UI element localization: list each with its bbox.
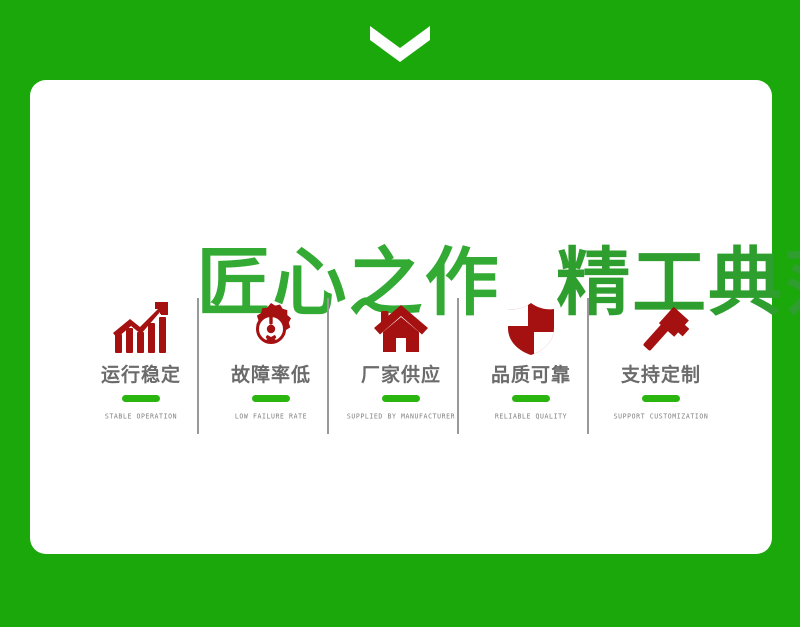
content-card: 匠心之作 精工典范 [30, 80, 772, 554]
feature-title: 运行稳定 [101, 366, 181, 385]
feature-title: 支持定制 [621, 366, 701, 385]
feature-subtitle: STABLE OPERATION [105, 413, 177, 420]
bar-chart-growth-icon [111, 298, 171, 360]
feature-underline [382, 395, 420, 402]
feature-item-reliable-quality: 品质可靠 RELIABLE QUALITY [466, 298, 596, 453]
feature-underline [252, 395, 290, 402]
chevron-down-icon [370, 26, 430, 62]
feature-item-stable-operation: 运行稳定 STABLE OPERATION [76, 298, 206, 453]
feature-item-low-failure-rate: 故障率低 LOW FAILURE RATE [206, 298, 336, 453]
chevron-down-icon-wrapper [0, 24, 800, 64]
feature-subtitle: SUPPORT CUSTOMIZATION [614, 413, 709, 420]
feature-underline [512, 395, 550, 402]
feature-title: 故障率低 [231, 366, 311, 385]
shield-icon [506, 298, 556, 360]
feature-item-supplied-by-manufacturer: 厂家供应 SUPPLIED BY MANUFACTURER [336, 298, 466, 453]
feature-subtitle: LOW FAILURE RATE [235, 413, 307, 420]
feature-title: 厂家供应 [361, 366, 441, 385]
promo-banner: 匠心之作 精工典范 [0, 0, 800, 627]
gear-icon [244, 298, 298, 360]
feature-subtitle: RELIABLE QUALITY [495, 413, 567, 420]
house-icon [373, 298, 429, 360]
feature-title: 品质可靠 [491, 366, 571, 385]
feature-underline [122, 395, 160, 402]
feature-item-support-customization: 支持定制 SUPPORT CUSTOMIZATION [596, 298, 726, 453]
feature-underline [642, 395, 680, 402]
feature-subtitle: SUPPLIED BY MANUFACTURER [347, 413, 455, 420]
feature-list: 运行稳定 STABLE OPERATION [76, 298, 726, 458]
hammer-icon [633, 298, 689, 360]
